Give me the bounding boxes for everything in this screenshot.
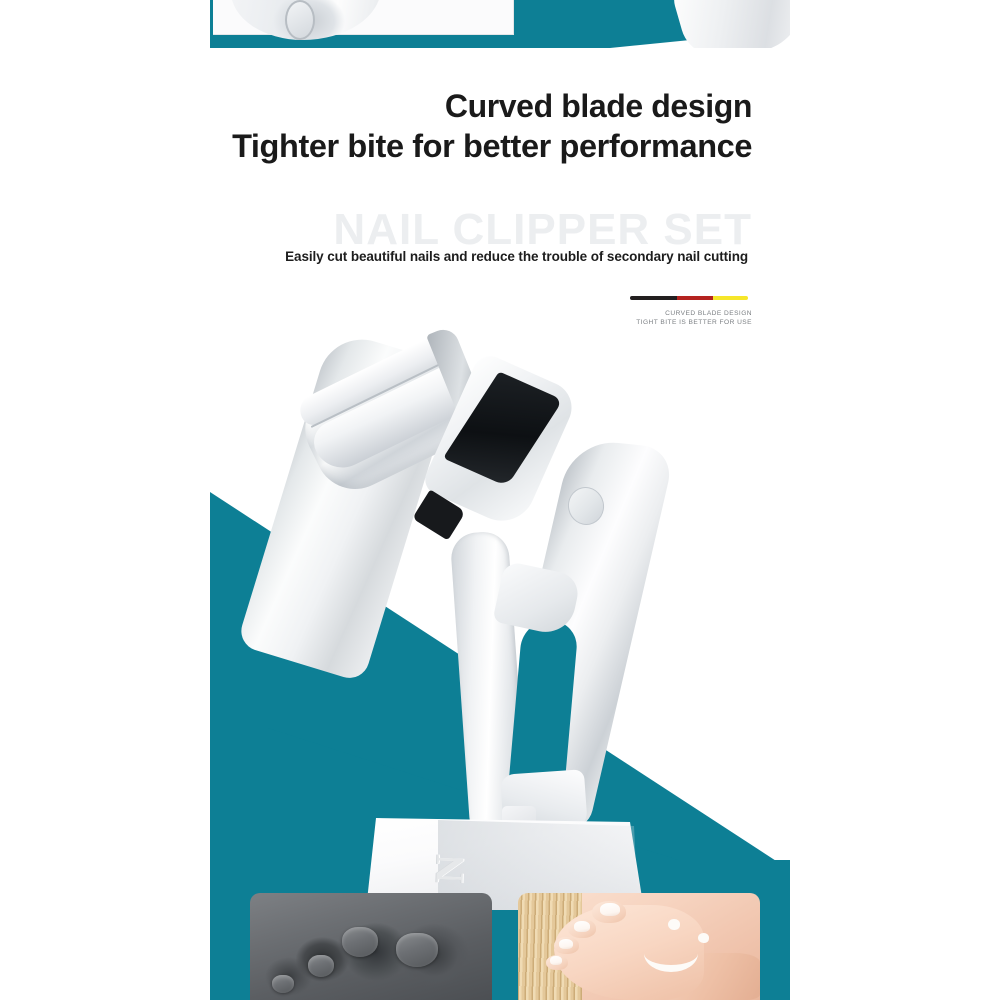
rule-segment-yellow	[713, 296, 748, 300]
damaged-toenail	[308, 955, 334, 977]
cream-smiley-eye-icon	[698, 933, 709, 943]
headline-block: Curved blade design Tighter bite for bet…	[210, 86, 752, 166]
top-banner-white-card	[213, 0, 514, 35]
product-fragment-right-icon	[667, 0, 790, 48]
cream-smiley-eye-icon	[668, 919, 680, 930]
damaged-toenail	[272, 975, 294, 993]
damaged-toenail	[396, 933, 438, 967]
rule-segment-black	[630, 296, 677, 300]
headline-line-1: Curved blade design	[210, 86, 752, 126]
rule-segment-red	[677, 296, 712, 300]
nail-clipper-illustration: N	[210, 320, 790, 900]
after-photo	[518, 893, 760, 1000]
watermark-text: NAIL CLIPPER SET	[210, 205, 752, 255]
healthy-toenail	[559, 939, 573, 949]
healthy-toenail	[550, 956, 562, 965]
rule-caption-line-1: CURVED BLADE DESIGN	[630, 309, 752, 318]
thumbnail-before-damaged-toenails[interactable]	[250, 893, 492, 1000]
healthy-toenail	[600, 903, 620, 916]
headline-line-2: Tighter bite for better performance	[210, 126, 752, 166]
top-banner	[210, 0, 790, 48]
cream-smiley-mouth-icon	[644, 935, 698, 972]
damaged-toenail	[342, 927, 378, 957]
subtitle-text: Easily cut beautiful nails and reduce th…	[210, 249, 748, 264]
content-column: Curved blade design Tighter bite for bet…	[210, 0, 790, 1000]
thumbnail-row	[210, 893, 790, 1000]
healthy-toenail	[574, 921, 590, 932]
tricolor-rule	[630, 296, 748, 300]
thumbnail-after-healthy-feet[interactable]	[518, 893, 760, 1000]
product-banner: Curved blade design Tighter bite for bet…	[0, 0, 1000, 1000]
product-fragment-ring-icon	[285, 0, 315, 40]
before-photo	[250, 893, 492, 1000]
